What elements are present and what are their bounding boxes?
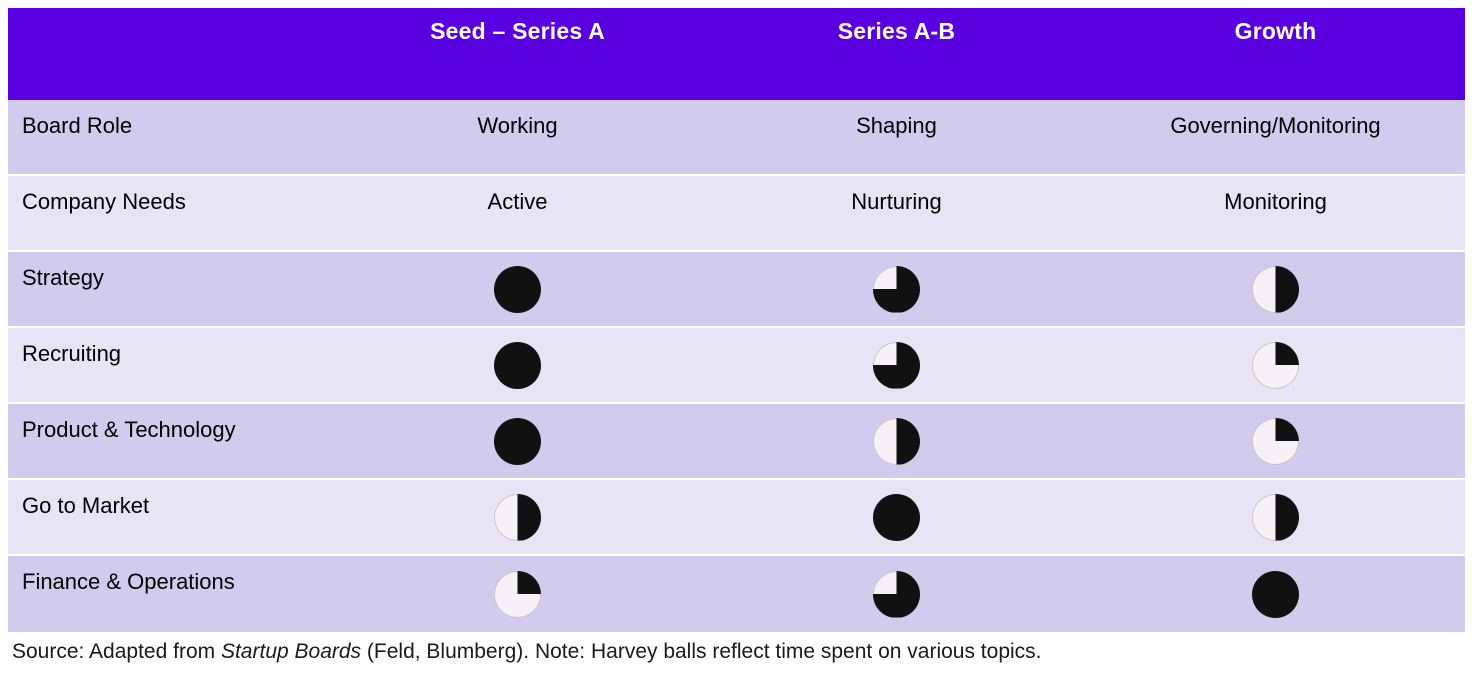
slide-canvas: Seed – Series A Series A-B Growth Board … [0,0,1472,683]
cell-strategy-seed-series-a [328,252,707,328]
row-label-strategy: Strategy [8,252,328,328]
footnote-suffix: (Feld, Blumberg). Note: Harvey balls ref… [361,640,1041,663]
header-corner-cell [8,8,328,100]
cell-product-technology-series-a-b [707,404,1086,480]
table-header: Seed – Series A Series A-B Growth [8,8,1465,100]
cell-strategy-growth [1086,252,1465,328]
cell-go-to-market-series-a-b [707,480,1086,556]
cell-board-role-seed-series-a: Working [328,100,707,176]
row-label-recruiting: Recruiting [8,328,328,404]
footnote-prefix: Source: Adapted from [12,640,221,663]
harvey-ball-icon [873,266,920,313]
cell-company-needs-seed-series-a: Active [328,176,707,252]
harvey-ball-icon [1252,342,1299,389]
cell-board-role-growth: Governing/Monitoring [1086,100,1465,176]
harvey-ball-icon [494,418,541,465]
column-header-series-a-b: Series A-B [707,8,1086,100]
harvey-ball-icon [1252,494,1299,541]
harvey-ball-icon [494,571,541,618]
cell-go-to-market-seed-series-a [328,480,707,556]
header-row: Seed – Series A Series A-B Growth [8,8,1465,100]
cell-board-role-series-a-b: Shaping [707,100,1086,176]
cell-product-technology-seed-series-a [328,404,707,480]
harvey-ball-icon [873,342,920,389]
harvey-ball-icon [494,266,541,313]
harvey-ball-icon [1252,266,1299,313]
harvey-ball-icon [494,494,541,541]
table-row-product-technology: Product & Technology [8,404,1465,480]
cell-finance-operations-growth [1086,556,1465,632]
cell-finance-operations-series-a-b [707,556,1086,632]
table-body: Board Role Working Shaping Governing/Mon… [8,100,1465,632]
table-row-go-to-market: Go to Market [8,480,1465,556]
harvey-ball-icon [873,418,920,465]
row-label-company-needs: Company Needs [8,176,328,252]
row-label-product-technology: Product & Technology [8,404,328,480]
table-row-finance-operations: Finance & Operations [8,556,1465,632]
cell-company-needs-series-a-b: Nurturing [707,176,1086,252]
row-label-go-to-market: Go to Market [8,480,328,556]
harvey-ball-icon [873,571,920,618]
harvey-ball-icon [1252,571,1299,618]
table-row-board-role: Board Role Working Shaping Governing/Mon… [8,100,1465,176]
column-header-growth: Growth [1086,8,1465,100]
cell-strategy-series-a-b [707,252,1086,328]
source-footnote: Source: Adapted from Startup Boards (Fel… [12,640,1042,664]
table-row-company-needs: Company Needs Active Nurturing Monitorin… [8,176,1465,252]
board-engagement-matrix: Seed – Series A Series A-B Growth Board … [8,8,1465,632]
cell-recruiting-seed-series-a [328,328,707,404]
footnote-title: Startup Boards [221,640,361,663]
harvey-ball-icon [1252,418,1299,465]
cell-recruiting-series-a-b [707,328,1086,404]
column-header-seed-series-a: Seed – Series A [328,8,707,100]
cell-finance-operations-seed-series-a [328,556,707,632]
table-row-strategy: Strategy [8,252,1465,328]
cell-product-technology-growth [1086,404,1465,480]
table-row-recruiting: Recruiting [8,328,1465,404]
harvey-ball-icon [873,494,920,541]
row-label-board-role: Board Role [8,100,328,176]
harvey-ball-icon [494,342,541,389]
row-label-finance-operations: Finance & Operations [8,556,328,632]
cell-company-needs-growth: Monitoring [1086,176,1465,252]
cell-recruiting-growth [1086,328,1465,404]
cell-go-to-market-growth [1086,480,1465,556]
